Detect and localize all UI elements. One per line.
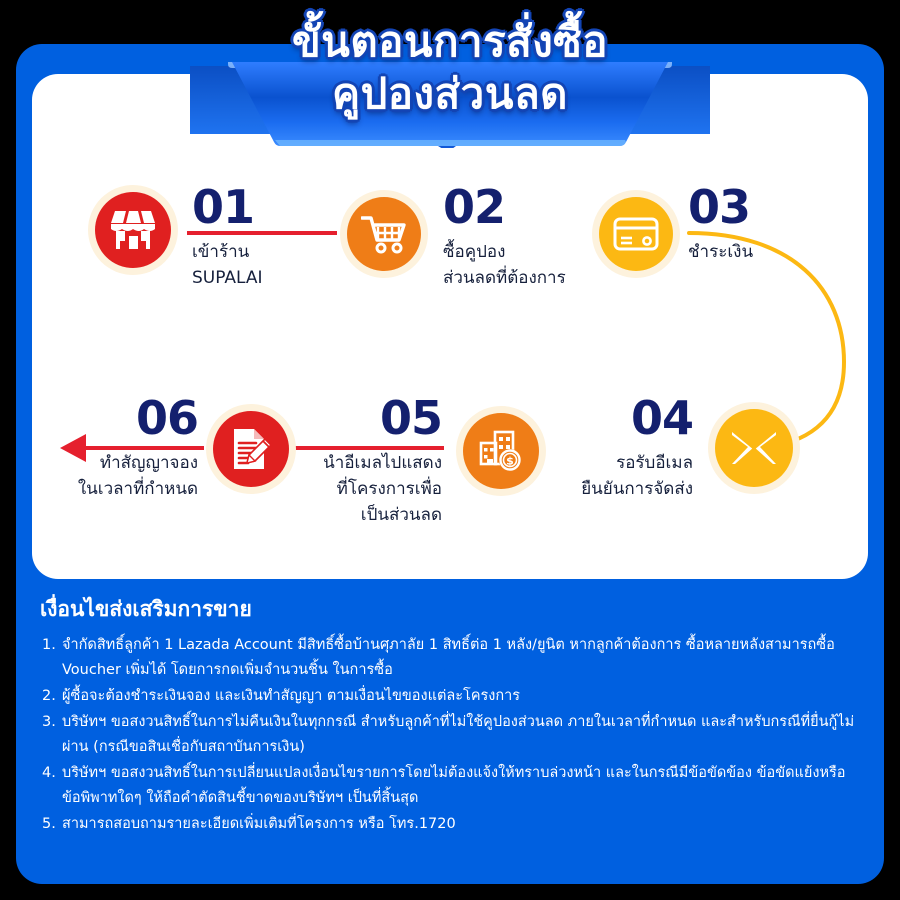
title-ribbon-banner <box>190 62 710 148</box>
svg-text:$: $ <box>506 455 514 468</box>
step-number: 03 <box>688 184 838 230</box>
shopping-cart-icon <box>347 197 421 271</box>
step-label: เข้าร้าน SUPALAI <box>192 239 342 291</box>
store-icon <box>95 192 171 268</box>
step-label: ชำระเงิน <box>688 239 838 265</box>
infographic-root: ขั้นตอนการสั่งซื้อ คูปองส่วนลด <box>0 0 900 900</box>
step-number: 06 <box>38 395 198 441</box>
terms-item: ผู้ซื้อจะต้องชำระเงินจอง และเงินทำสัญญา … <box>40 684 860 709</box>
terms-list: จำกัดสิทธิ์ลูกค้า 1 Lazada Account มีสิท… <box>40 633 860 837</box>
envelope-icon <box>715 409 793 487</box>
credit-card-icon <box>599 197 673 271</box>
terms-item: จำกัดสิทธิ์ลูกค้า 1 Lazada Account มีสิท… <box>40 633 860 683</box>
terms-heading: เงื่อนไขส่งเสริมการขาย <box>40 594 860 624</box>
terms-item: บริษัทฯ ขอสงวนสิทธิ์ในการไม่คืนเงินในทุก… <box>40 710 860 760</box>
step-text-01: 01 เข้าร้าน SUPALAI <box>192 184 342 291</box>
step-node-05: $ <box>456 406 546 496</box>
terms-item: บริษัทฯ ขอสงวนสิทธิ์ในการเปลี่ยนแปลงเงื่… <box>40 761 860 811</box>
step-number: 05 <box>285 395 442 441</box>
step-text-03: 03 ชำระเงิน <box>688 184 838 265</box>
step-label: นำอีเมลไปแสดง ที่โครงการเพื่อ เป็นส่วนลด <box>285 450 442 528</box>
building-money-icon: $ <box>463 413 539 489</box>
contract-pencil-icon <box>213 411 289 487</box>
step-number: 01 <box>192 184 342 230</box>
step-node-06 <box>206 404 296 494</box>
step-text-06: 06 ทำสัญญาจอง ในเวลาที่กำหนด <box>38 395 198 502</box>
step-node-02 <box>340 190 428 278</box>
flow-connectors <box>32 74 868 579</box>
step-node-01 <box>88 185 178 275</box>
step-text-05: 05 นำอีเมลไปแสดง ที่โครงการเพื่อ เป็นส่ว… <box>285 395 442 528</box>
step-label: ทำสัญญาจอง ในเวลาที่กำหนด <box>38 450 198 502</box>
step-node-04 <box>708 402 800 494</box>
step-node-03 <box>592 190 680 278</box>
terms-section: เงื่อนไขส่งเสริมการขาย จำกัดสิทธิ์ลูกค้า… <box>40 594 860 838</box>
terms-item: สามารถสอบถามรายละเอียดเพิ่มเติมที่โครงกา… <box>40 812 860 837</box>
